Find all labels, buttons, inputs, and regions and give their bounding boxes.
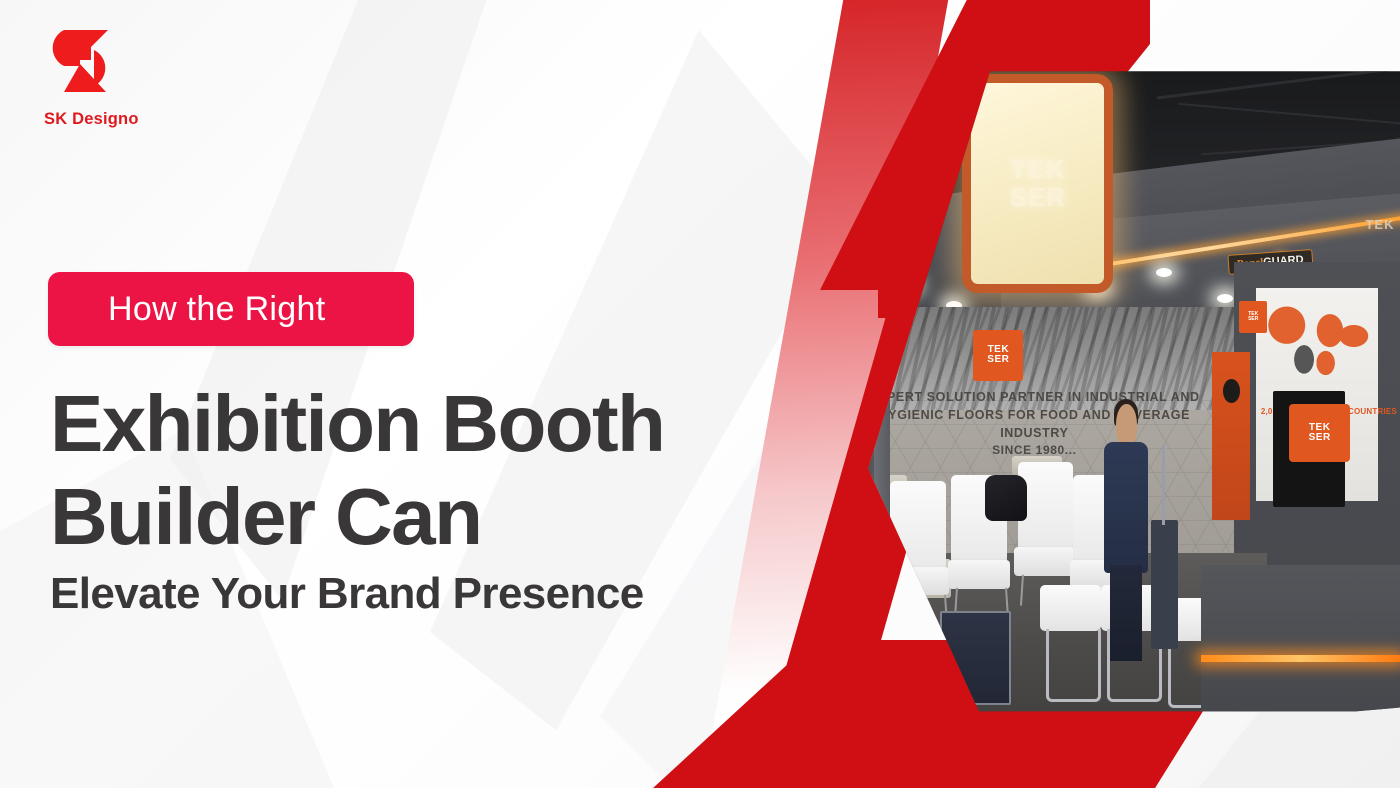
photo-small-tekser-tag: TEK SER [1239,301,1267,333]
sk-designo-monogram-icon [50,24,130,106]
eyebrow-badge: How the Right [48,272,414,346]
photo-visitor-person [1101,404,1151,656]
photo-counter-led-glow [1201,655,1400,662]
photo-far-right-text: TEK [1365,217,1394,232]
counter-tag-line-2: SER [1309,433,1331,444]
photo-tekser-counter-logo: TEK SER [1289,404,1350,462]
photo-black-bag [985,475,1027,521]
photo-booth-door [1212,352,1251,520]
world-map-icon [1263,300,1370,390]
small-tag-line-2: SER [1248,317,1258,322]
photo-rolling-luggage [1151,520,1179,649]
red-band-bottom-secondary [690,700,1210,788]
headline-line-2: Builder Can [50,471,730,564]
eyebrow-badge-label: How the Right [48,290,325,329]
page-title: Exhibition Booth Builder Can [50,378,730,564]
headline-line-1: Exhibition Booth [50,378,730,471]
subheadline: Elevate Your Brand Presence [50,568,750,621]
brand-logo[interactable]: SK Designo [44,24,174,129]
photo-reception-counter [1201,565,1400,714]
photo-tekser-mural-tag: TEK SER [973,330,1023,382]
brand-name: SK Designo [44,110,174,129]
wall-text-line-2: HYGIENIC FLOORS FOR FOOD AND BEVERAGE IN… [852,406,1218,442]
wall-text-line-1: EXPERT SOLUTION PARTNER IN INDUSTRIAL AN… [852,388,1218,406]
mural-tag-line-2: SER [987,355,1009,366]
photo-bar-stool [1040,585,1101,695]
photo-hanging-lightbox-sign: TEK SER [962,74,1113,292]
promotional-banner: TEK SER PanelGUARD TEK TEK SER EXPERT SO… [0,0,1400,788]
lightbox-line-1: TEK [1010,156,1065,183]
lightbox-line-2: SER [1010,184,1066,211]
